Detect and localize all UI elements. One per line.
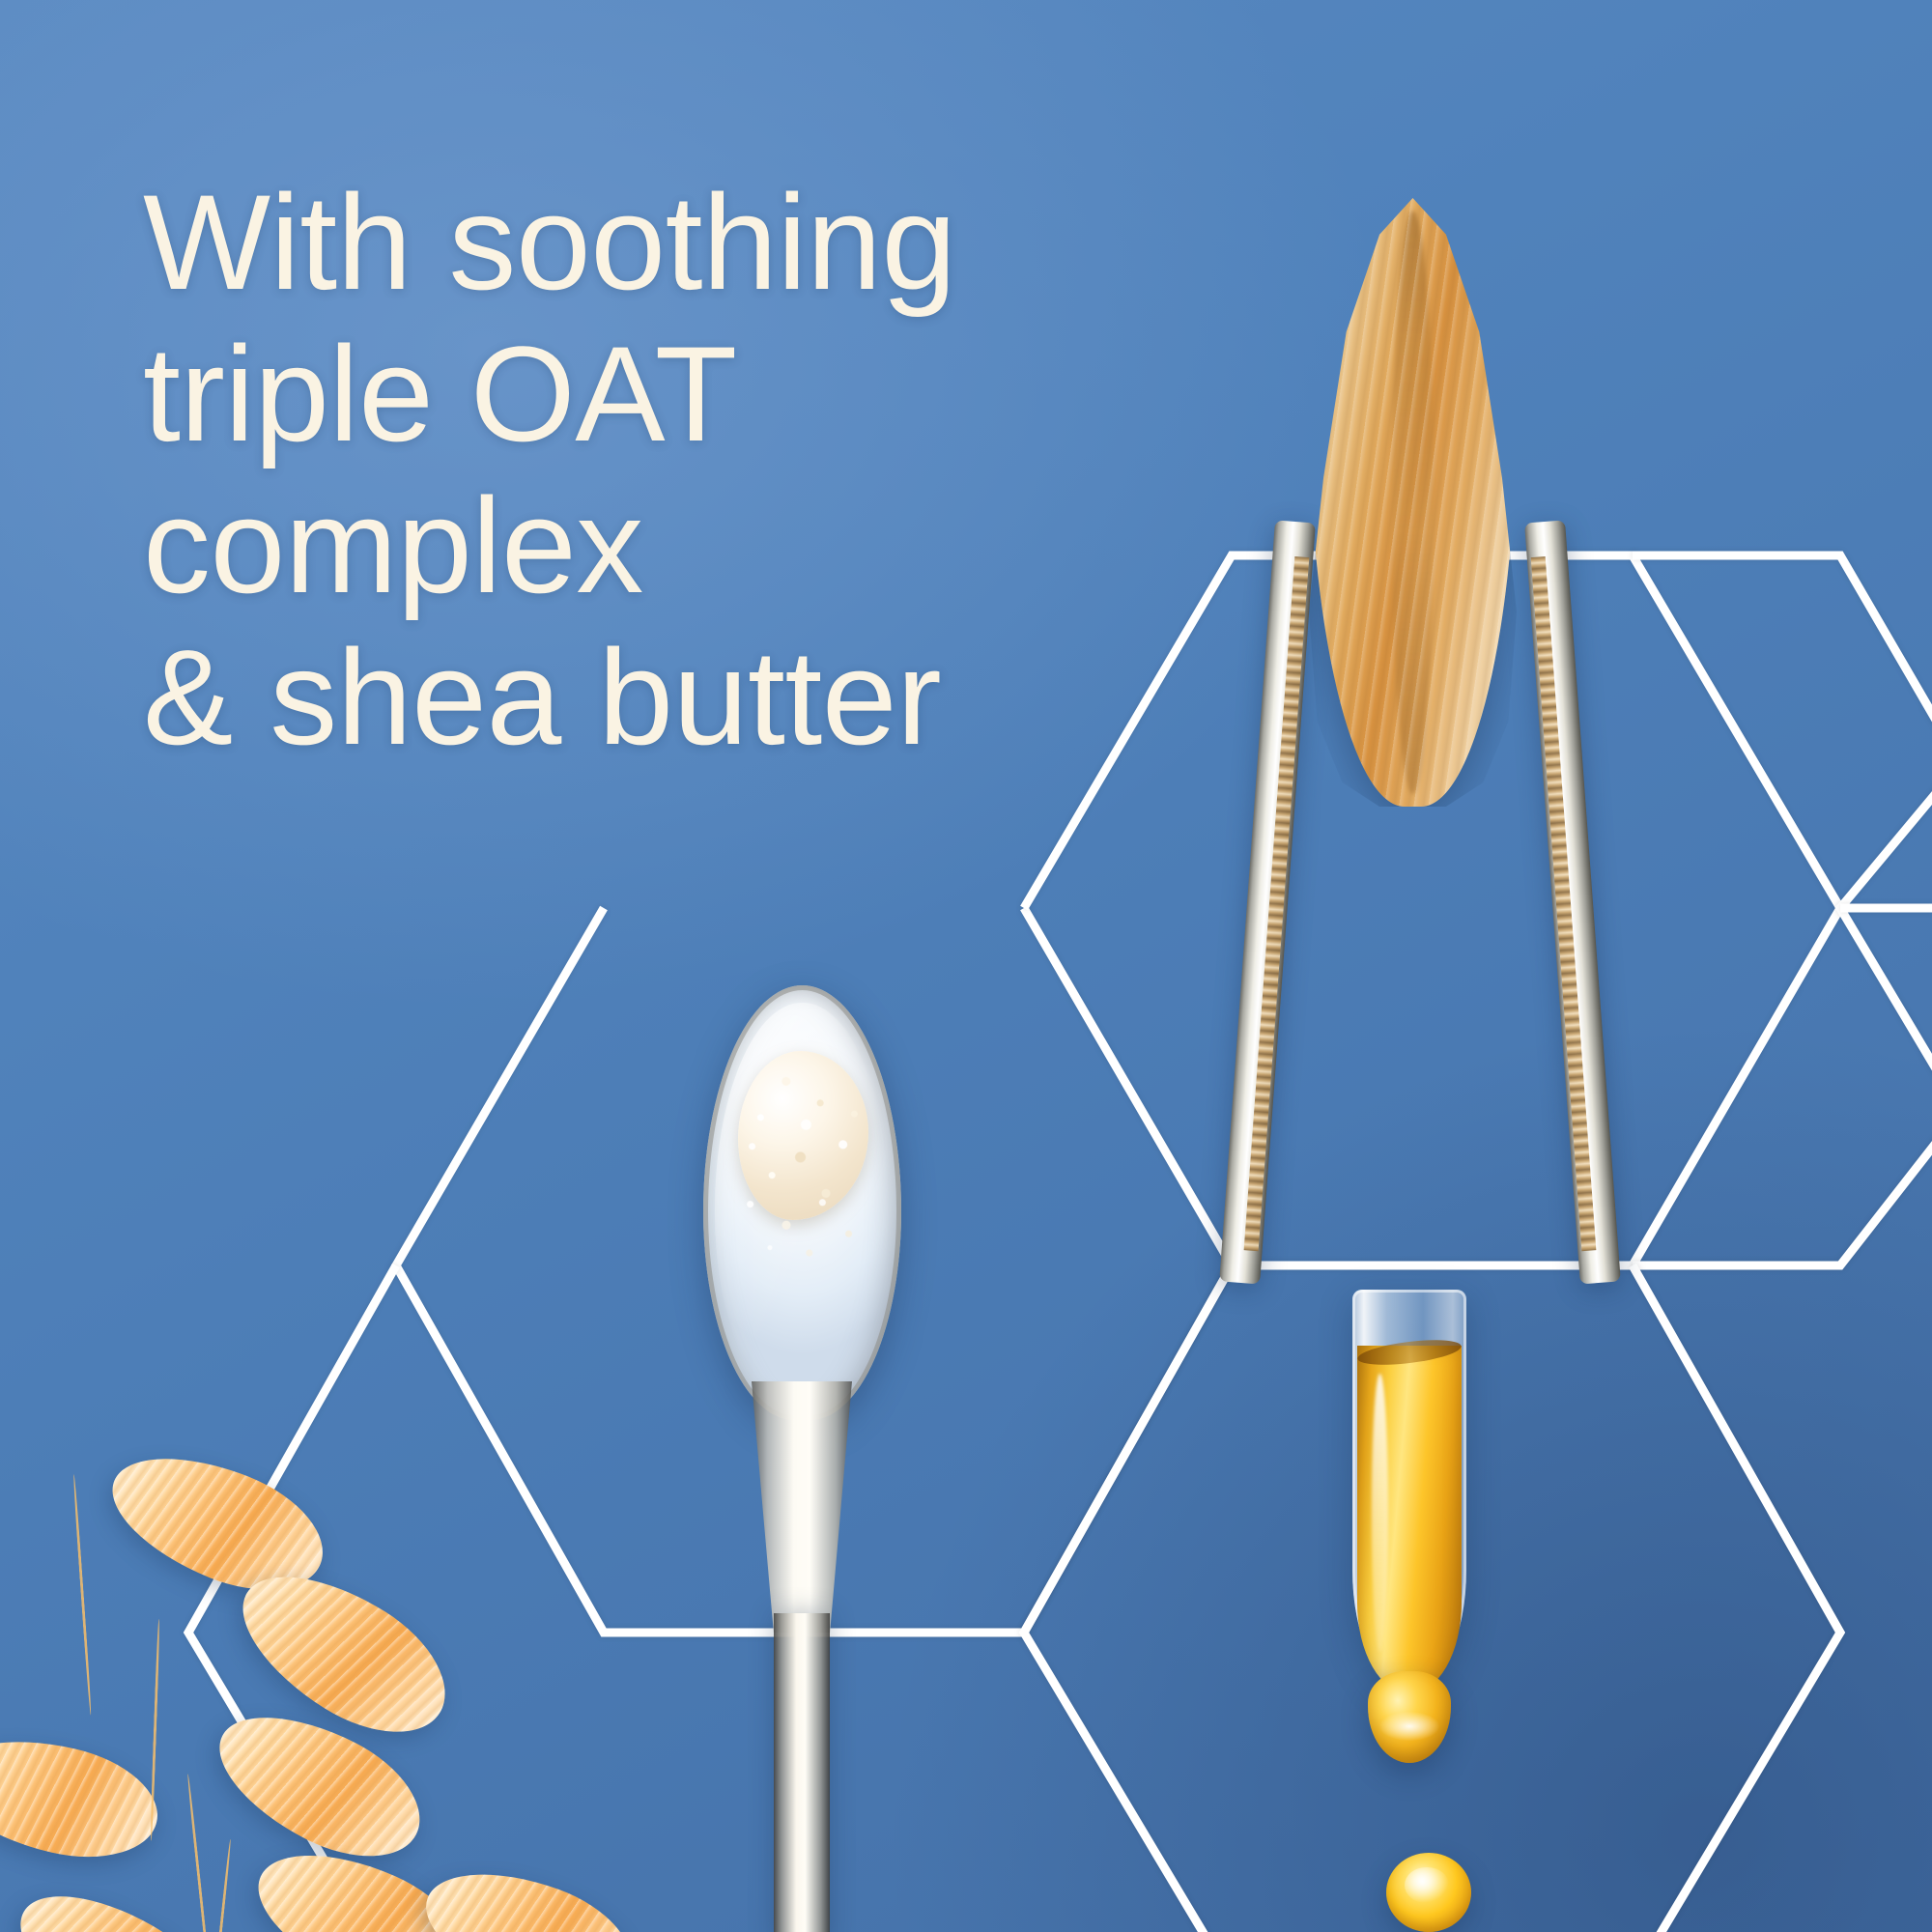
spoon-with-oat-powder	[676, 985, 927, 1932]
page-title: With soothing triple OAT complex & shea …	[143, 166, 1225, 773]
pipette-oil-bead	[1368, 1671, 1451, 1763]
oil-dropper-icon	[1352, 1290, 1497, 1802]
pipette-oil-column	[1357, 1346, 1462, 1693]
oat-awn	[72, 1474, 92, 1716]
oil-droplet-icon	[1386, 1853, 1471, 1932]
oat-stalks-icon	[0, 1430, 647, 1932]
tweezer-arm-right	[1524, 520, 1621, 1284]
headline-line-1: With soothing	[143, 166, 1225, 318]
oat-spikelet	[410, 1848, 647, 1932]
headline-line-3: complex	[143, 469, 1225, 621]
product-banner: With soothing triple OAT complex & shea …	[0, 0, 1932, 1932]
oat-awn	[186, 1774, 213, 1932]
headline-line-4: & shea butter	[143, 621, 1225, 773]
oat-spikelet	[0, 1721, 168, 1874]
headline-line-2: triple OAT	[143, 318, 1225, 469]
spoon-handle	[774, 1613, 830, 1932]
spoon-neck	[752, 1381, 852, 1633]
oat-awn	[209, 1839, 232, 1932]
oat-powder-dust	[721, 1183, 885, 1270]
